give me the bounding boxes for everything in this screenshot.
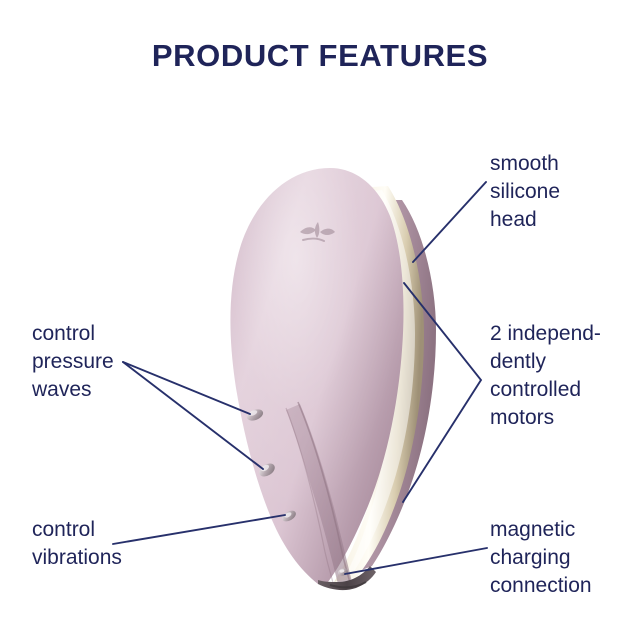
- leader-line-vibrations: [113, 515, 285, 544]
- callout-label-control-pressure-waves: control pressure waves: [32, 320, 114, 404]
- leader-line-pressure-upper: [123, 362, 250, 414]
- product-features-diagram: PRODUCT FEATURES: [0, 0, 640, 640]
- callout-label-control-vibrations: control vibrations: [32, 516, 122, 572]
- callout-label-independently-controlled-motors: 2 independ- dently controlled motors: [490, 320, 601, 432]
- leader-line-smooth-silicone-head: [413, 182, 486, 262]
- callout-label-smooth-silicone-head: smooth silicone head: [490, 150, 560, 234]
- callout-label-magnetic-charging-connection: magnetic charging connection: [490, 516, 592, 600]
